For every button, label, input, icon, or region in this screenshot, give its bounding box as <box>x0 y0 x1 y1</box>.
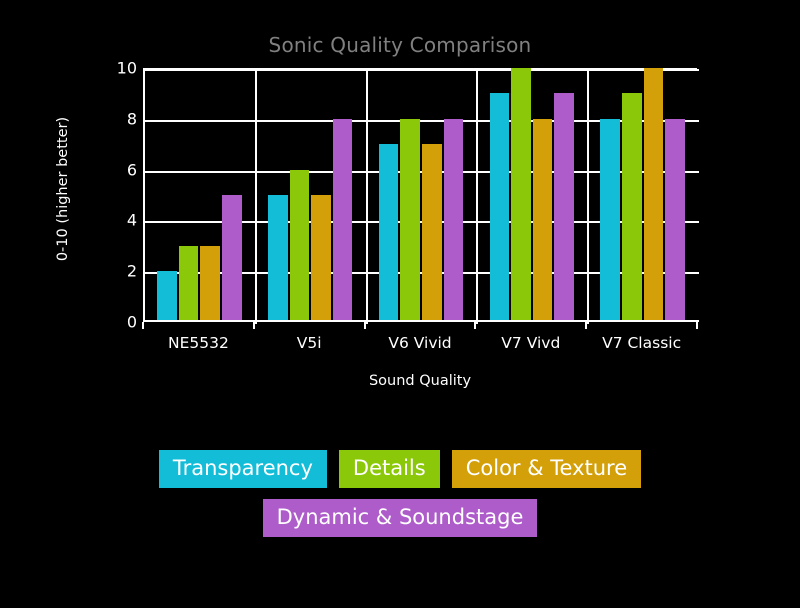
y-tick-label: 4 <box>101 211 137 230</box>
legend-item-dynamic-soundstage[interactable]: Dynamic & Soundstage <box>263 499 538 537</box>
legend-row: TransparencyDetailsColor & Texture <box>0 450 800 488</box>
bar-dynamic-soundstage-v7-classic <box>665 119 685 322</box>
legend-item-color-texture[interactable]: Color & Texture <box>452 450 641 488</box>
gridline-vertical <box>587 70 589 324</box>
bar-transparency-v7-vivd <box>490 93 510 322</box>
bar-details-v7-classic <box>622 93 642 322</box>
bar-color-texture-v6-vivid <box>422 144 442 322</box>
x-axis-tick <box>585 322 587 329</box>
y-tick-label: 8 <box>101 109 137 128</box>
bar-transparency-v7-classic <box>600 119 620 322</box>
x-axis-line <box>143 320 699 322</box>
x-axis-label-v5i: V5i <box>297 334 322 352</box>
bar-transparency-v5i <box>268 195 288 322</box>
bar-color-texture-ne5532 <box>200 246 220 322</box>
bar-transparency-v6-vivid <box>379 144 399 322</box>
bar-details-v6-vivid <box>400 119 420 322</box>
gridline-horizontal <box>145 69 699 71</box>
bar-color-texture-v7-classic <box>644 68 664 322</box>
chart-canvas: Sonic Quality Comparison 0-10 (higher be… <box>0 0 800 608</box>
x-axis-tick <box>364 322 366 329</box>
gridline-vertical <box>366 70 368 324</box>
x-axis-tick <box>696 322 698 329</box>
bar-dynamic-soundstage-ne5532 <box>222 195 242 322</box>
legend-item-details[interactable]: Details <box>339 450 440 488</box>
x-axis-label-v7-vivd: V7 Vivd <box>501 334 560 352</box>
bar-dynamic-soundstage-v5i <box>333 119 353 322</box>
plot-area <box>143 68 697 322</box>
x-axis-label-v7-classic: V7 Classic <box>602 334 681 352</box>
y-tick-label: 10 <box>101 59 137 78</box>
x-axis-label-ne5532: NE5532 <box>168 334 229 352</box>
y-tick-label: 2 <box>101 262 137 281</box>
gridline-vertical <box>476 70 478 324</box>
legend-item-transparency[interactable]: Transparency <box>159 450 327 488</box>
x-axis-tick <box>142 322 144 329</box>
gridline-vertical <box>255 70 257 324</box>
x-axis-tick <box>474 322 476 329</box>
x-axis-label-v6-vivid: V6 Vivid <box>388 334 451 352</box>
bar-transparency-ne5532 <box>157 271 177 322</box>
x-axis-title: Sound Quality <box>143 373 697 389</box>
bar-details-v5i <box>290 170 310 322</box>
y-tick-label: 6 <box>101 160 137 179</box>
y-tick-label: 0 <box>101 313 137 332</box>
y-axis-title-text: 0-10 (higher better) <box>52 55 74 323</box>
chart-legend: TransparencyDetailsColor & TextureDynami… <box>0 450 800 548</box>
bar-dynamic-soundstage-v7-vivd <box>554 93 574 322</box>
bar-details-v7-vivd <box>511 68 531 322</box>
x-axis-tick <box>253 322 255 329</box>
bar-dynamic-soundstage-v6-vivid <box>444 119 464 322</box>
bar-color-texture-v7-vivd <box>533 119 553 322</box>
y-axis-title: 0-10 (higher better) <box>52 0 74 55</box>
legend-row: Dynamic & Soundstage <box>0 499 800 537</box>
bar-color-texture-v5i <box>311 195 331 322</box>
bar-details-ne5532 <box>179 246 199 322</box>
